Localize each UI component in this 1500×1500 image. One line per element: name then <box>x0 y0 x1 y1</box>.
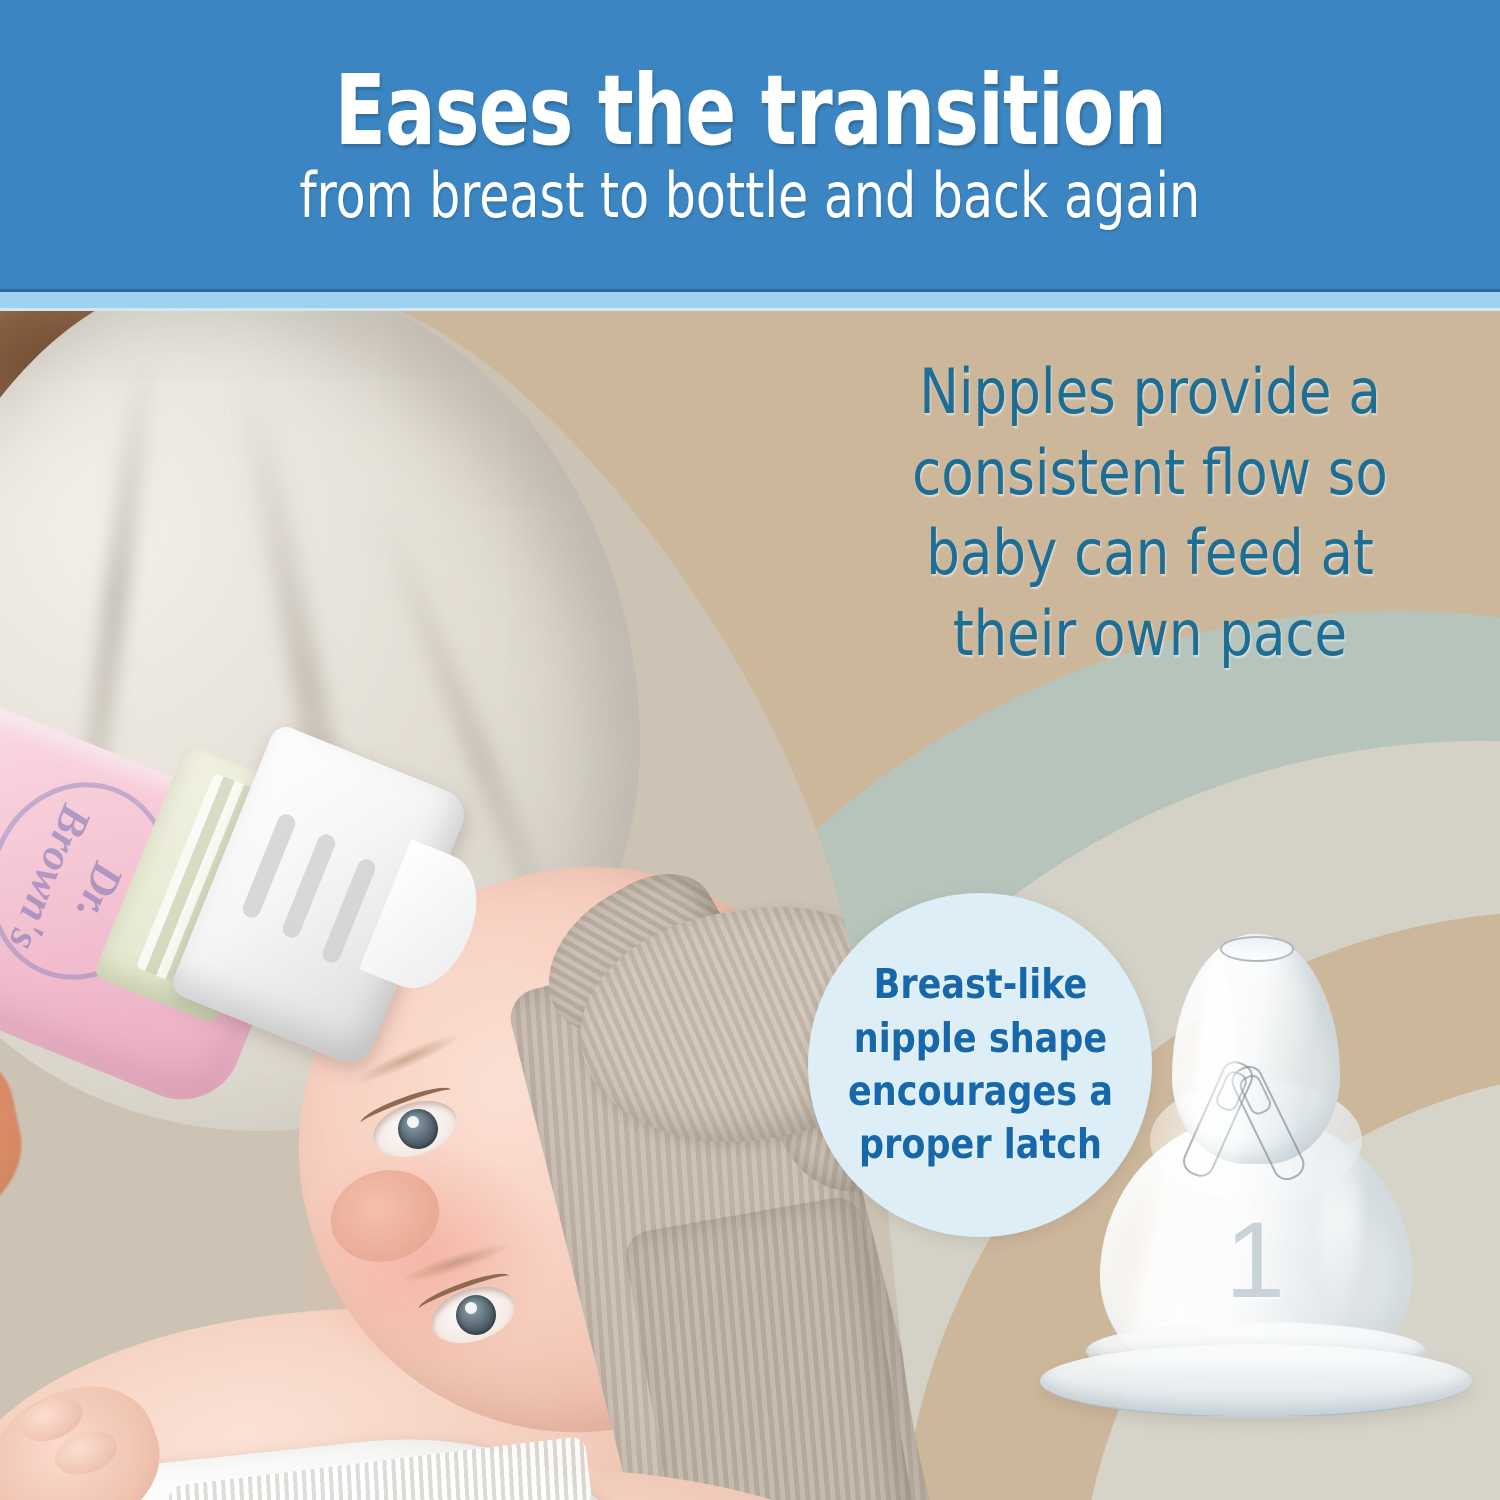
header-accent-stripe <box>0 292 1500 308</box>
benefit-copy-line: consistent flow so <box>856 433 1445 514</box>
nipple-flow-level-number: 1 <box>1020 1206 1490 1314</box>
benefit-copy-line: baby can feed at <box>856 513 1445 594</box>
header-banner: Eases the transition from breast to bott… <box>0 0 1500 289</box>
baby-cheek <box>300 1141 550 1371</box>
header-subtitle: from breast to bottle and back again <box>300 165 1201 227</box>
benefit-copy: Nipples provide a consistent flow so bab… <box>856 352 1445 674</box>
nipple-tip-hole <box>1220 936 1294 962</box>
benefit-copy-line: Nipples provide a <box>856 352 1445 433</box>
header-title: Eases the transition <box>334 62 1165 159</box>
product-nipple-image: 1 <box>1020 930 1490 1450</box>
benefit-copy-line: their own pace <box>856 594 1445 675</box>
product-infographic: Eases the transition from breast to bott… <box>0 0 1500 1500</box>
nipple-collar-ring-outer <box>1040 1344 1472 1418</box>
